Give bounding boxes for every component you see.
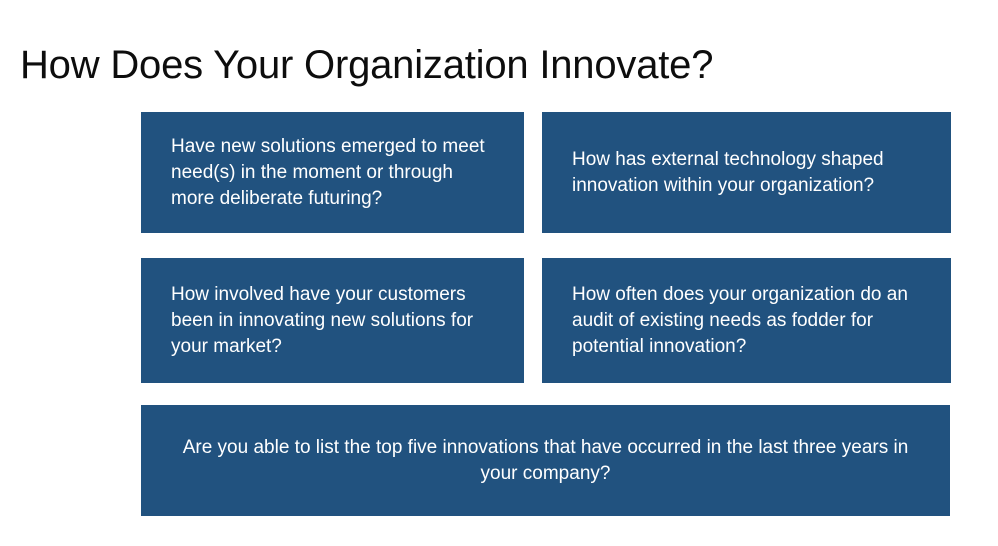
question-card-top-right[interactable]: How has external technology shaped innov… xyxy=(542,112,951,233)
question-card-top-left[interactable]: Have new solutions emerged to meet need(… xyxy=(141,112,524,233)
question-grid: Have new solutions emerged to meet need(… xyxy=(141,112,950,516)
question-card-middle-left[interactable]: How involved have your customers been in… xyxy=(141,258,524,383)
question-card-text: Are you able to list the top five innova… xyxy=(171,435,920,487)
question-card-middle-right[interactable]: How often does your organization do an a… xyxy=(542,258,951,383)
question-card-bottom-full[interactable]: Are you able to list the top five innova… xyxy=(141,405,950,516)
page-title: How Does Your Organization Innovate? xyxy=(20,39,960,91)
question-card-text: How has external technology shaped innov… xyxy=(572,147,927,199)
question-card-text: How often does your organization do an a… xyxy=(572,282,927,360)
slide-canvas: How Does Your Organization Innovate? Hav… xyxy=(0,0,998,546)
question-card-text: Have new solutions emerged to meet need(… xyxy=(171,134,500,212)
question-card-text: How involved have your customers been in… xyxy=(171,282,500,360)
